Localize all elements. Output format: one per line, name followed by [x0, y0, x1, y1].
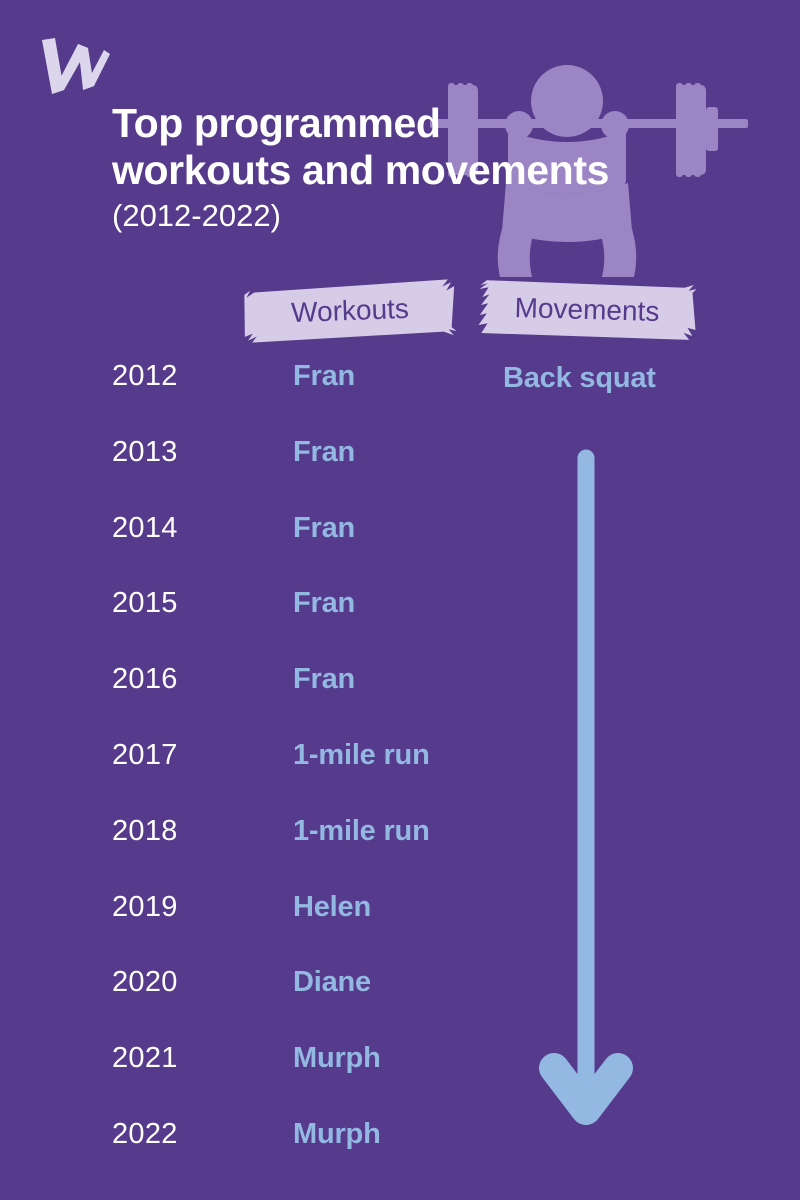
cell-workout: Murph — [293, 1118, 523, 1151]
cell-workout: 1-mile run — [293, 739, 523, 772]
cell-year: 2015 — [112, 587, 242, 620]
title-line-2: workouts and movements — [112, 147, 712, 194]
column-header-workouts: Workouts — [242, 277, 458, 345]
cell-workout: Fran — [293, 512, 523, 545]
column-header-movements: Movements — [475, 277, 699, 343]
cell-workout: Murph — [293, 1042, 523, 1075]
cell-workout: Diane — [293, 966, 523, 999]
table-row: 2015Fran — [0, 587, 800, 663]
table-row: 2013Fran — [0, 436, 800, 512]
title-line-1: Top programmed — [112, 100, 712, 147]
w-logo — [38, 36, 110, 98]
column-header-movements-label: Movements — [514, 292, 660, 328]
cell-year: 2013 — [112, 436, 242, 469]
cell-year: 2016 — [112, 663, 242, 696]
column-header-workouts-label: Workouts — [291, 293, 410, 329]
cell-year: 2019 — [112, 891, 242, 924]
cell-workout: 1-mile run — [293, 815, 523, 848]
cell-workout: Fran — [293, 663, 523, 696]
table-row: 2014Fran — [0, 512, 800, 588]
table-row: 2019Helen — [0, 891, 800, 967]
cell-workout: Fran — [293, 436, 523, 469]
cell-workout: Fran — [293, 360, 523, 393]
cell-year: 2017 — [112, 739, 242, 772]
cell-year: 2022 — [112, 1118, 242, 1151]
cell-workout: Helen — [293, 891, 523, 924]
cell-year: 2012 — [112, 360, 242, 393]
table-row: 2016Fran — [0, 663, 800, 739]
table-row: 20171-mile run — [0, 739, 800, 815]
cell-year: 2014 — [112, 512, 242, 545]
table-row: 2021Murph — [0, 1042, 800, 1118]
infographic-canvas: Top programmed workouts and movements (2… — [0, 0, 800, 1200]
cell-workout: Fran — [293, 587, 523, 620]
table-row: 2022Murph — [0, 1118, 800, 1194]
cell-year: 2020 — [112, 966, 242, 999]
data-table: 2012FranBack squat2013Fran2014Fran2015Fr… — [0, 360, 800, 1194]
table-row: 20181-mile run — [0, 815, 800, 891]
table-row: 2012FranBack squat — [0, 360, 800, 436]
cell-year: 2021 — [112, 1042, 242, 1075]
cell-year: 2018 — [112, 815, 242, 848]
page-subtitle: (2012-2022) — [112, 198, 712, 234]
table-row: 2020Diane — [0, 966, 800, 1042]
cell-movement: Back squat — [503, 362, 763, 395]
page-title: Top programmed workouts and movements (2… — [112, 100, 712, 234]
